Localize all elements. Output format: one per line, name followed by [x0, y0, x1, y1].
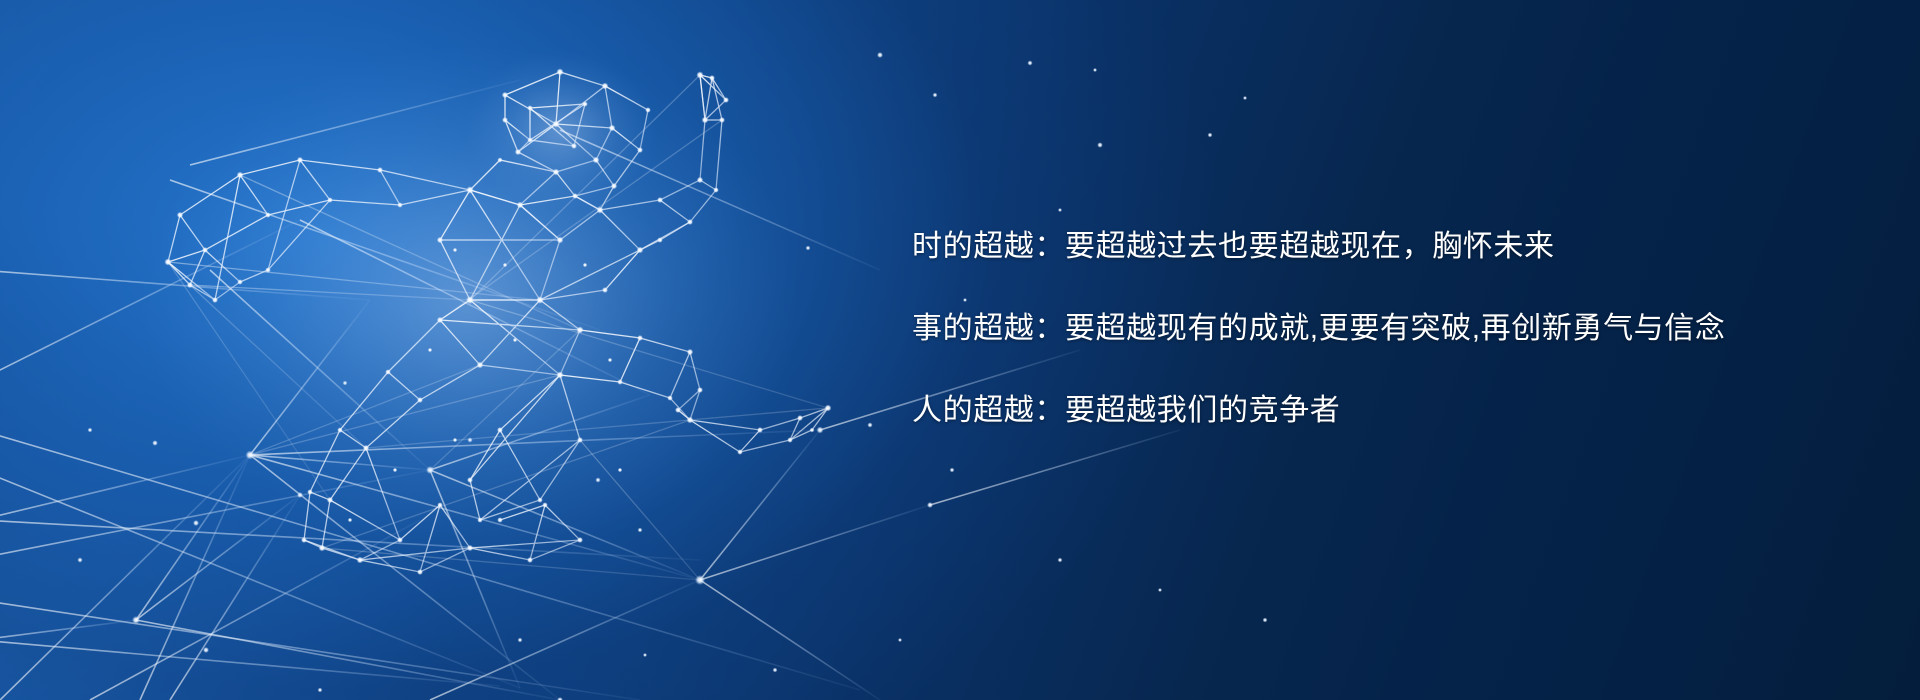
- slogan-line-3: 人的超越：要超越我们的竞争者: [912, 396, 1812, 426]
- slogan-text-block: 时的超越：要超越过去也要超越现在，胸怀未来 事的超越：要超越现有的成就,更要有突…: [912, 232, 1812, 426]
- hero-banner: 时的超越：要超越过去也要超越现在，胸怀未来 事的超越：要超越现有的成就,更要有突…: [0, 0, 1920, 700]
- slogan-line-2: 事的超越：要超越现有的成就,更要有突破,再创新勇气与信念: [912, 314, 1812, 344]
- slogan-line-1: 时的超越：要超越过去也要超越现在，胸怀未来: [912, 232, 1812, 262]
